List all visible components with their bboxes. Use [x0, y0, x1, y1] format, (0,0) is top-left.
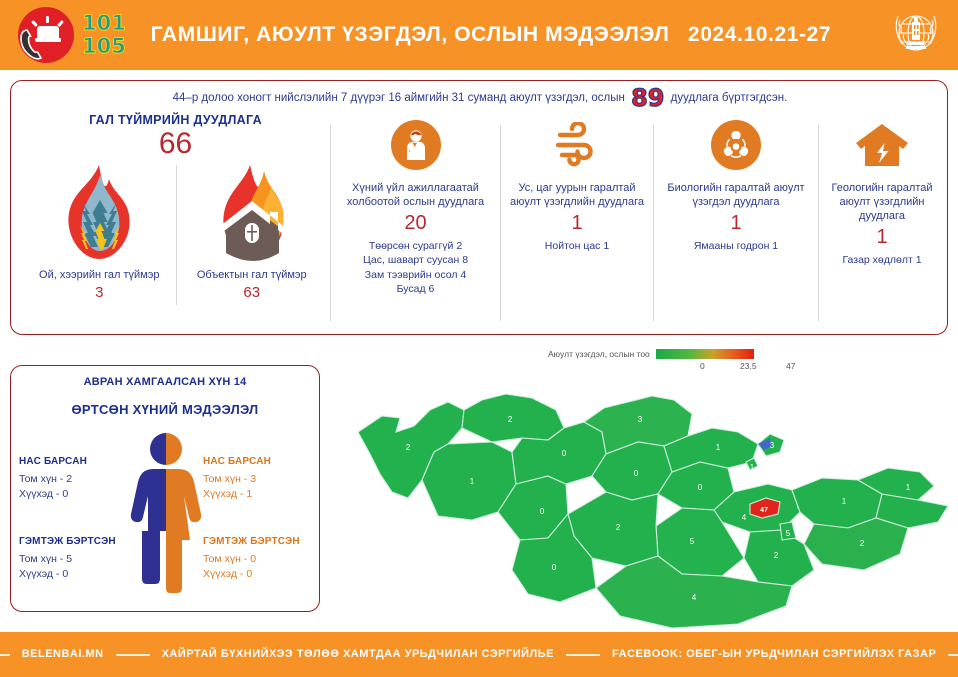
- page-footer: BELENBAI.MN ХАЙРТАЙ БҮХНИЙХЭЭ ТӨЛӨӨ ХАМТ…: [0, 632, 958, 677]
- male-female-figure-icon: [117, 429, 215, 597]
- map-value-sukhbaatar: 2: [860, 539, 865, 548]
- hazard-subline: Газар хөдлөлт 1: [827, 253, 937, 267]
- female-injuries-title: ГЭМТЭЖ БЭРТСЭН: [203, 535, 300, 550]
- region-sukhbaatar: [804, 518, 908, 570]
- hazard-weather: Ус, цаг уурын гаралтай аюулт үзэгдлийн д…: [503, 113, 651, 253]
- legend-row: Аюулт үзэгдэл, ослын тоо: [548, 349, 798, 359]
- female-deaths-child: Хүүхэд - 1: [203, 487, 271, 502]
- map-value-arkhangai: 0: [634, 469, 639, 478]
- hazard-count-1: 20: [339, 213, 492, 233]
- map-value-khentii: 1: [842, 497, 847, 506]
- fire-calls-block: ГАЛ ТҮЙМРИЙН ДУУДЛАГА 66: [23, 113, 328, 328]
- injured-person-circle: [391, 120, 441, 170]
- hazard-sublines-2: Нойтон цас 1: [509, 239, 645, 253]
- map-value-bayankhongor: 0: [552, 563, 557, 572]
- map-value-orkhon: 1: [750, 463, 755, 472]
- affected-people-title: ӨРТСӨН ХҮНИЙ МЭДЭЭЛЭЛ: [11, 402, 319, 417]
- fire-item-building: Объектын гал түймэр 63: [176, 161, 329, 301]
- region-dornogobi: [744, 530, 814, 586]
- footer-website[interactable]: BELENBAI.MN: [22, 647, 104, 662]
- page-header: 101 105 ГАМШИГ, АЮУЛТ ҮЗЭГДЭЛ, ОСЛЫН МЭД…: [0, 0, 958, 70]
- hazard-icon-wrap-1: [339, 113, 492, 177]
- mongolia-choropleth-map: 2 2 1 0 0 3 0 0 1 3 4 47 1 1 2 2 5 5 2 0: [352, 388, 952, 633]
- male-deaths-child: Хүүхэд - 0: [19, 487, 87, 502]
- legend-title: Аюулт үзэгдэл, ослын тоо: [548, 349, 650, 359]
- section-divider-2: [500, 125, 501, 321]
- hazard-human-activity: Хүний үйл ажиллагаатай холбоотой ослын д…: [333, 113, 498, 296]
- map-value-zavkhan: 0: [562, 449, 567, 458]
- map-value-khovd: 1: [470, 477, 475, 486]
- legend-tick-mid: 23.5: [740, 361, 757, 371]
- male-deaths-block: НАС БАРСАН Том хүн - 2 Хүүхэд - 0: [19, 455, 87, 502]
- earthquake-house-icon: [854, 121, 910, 169]
- hazard-subline: Нойтон цас 1: [509, 239, 645, 253]
- affected-people-card: АВРАН ХАМГААЛСАН ХҮН 14 ӨРТСӨН ХҮНИЙ МЭД…: [10, 365, 320, 612]
- nema-globe-emblem-icon: [886, 6, 946, 64]
- weekly-summary-text: 44–р долоо хоногт нийслэлийн 7 дүүрэг 16…: [11, 89, 949, 108]
- female-injuries-child: Хүүхэд - 0: [203, 567, 300, 582]
- summary-prefix: 44–р долоо хоногт нийслэлийн 7 дүүрэг 16…: [173, 92, 625, 104]
- footer-divider: [0, 654, 10, 656]
- page-title-text: ГАМШИГ, АЮУЛТ ҮЗЭГДЭЛ, ОСЛЫН МЭДЭЭЛЭЛ: [151, 23, 670, 46]
- building-fire-label: Объектын гал түймэр: [180, 269, 325, 283]
- map-value-bulgan: 0: [698, 483, 703, 492]
- map-value-umnugobi: 4: [692, 593, 697, 602]
- hazard-subline: Төөрсөн сураггүй 2: [339, 239, 492, 253]
- hazard-sublines-3: Ямааны годрон 1: [662, 239, 810, 253]
- hazard-icon-wrap-3: [662, 113, 810, 177]
- male-deaths-adult: Том хүн - 2: [19, 472, 87, 487]
- map-value-dornogobi: 2: [774, 551, 779, 560]
- map-legend: Аюулт үзэгдэл, ослын тоо 0 23.5 47: [548, 349, 798, 372]
- map-value-bayan-olgii: 2: [406, 443, 411, 452]
- fire-divider: [176, 165, 177, 305]
- footer-divider: [948, 654, 958, 656]
- report-date-range: 2024.10.21-27: [688, 23, 831, 46]
- forest-fire-icon: [51, 161, 147, 265]
- legend-tick-min: 0: [700, 361, 705, 371]
- male-injuries-adult: Том хүн - 5: [19, 552, 116, 567]
- male-injuries-title: ГЭМТЭЖ БЭРТСЭН: [19, 535, 116, 550]
- hazard-summary-card: 44–р долоо хоногт нийслэлийн 7 дүүрэг 16…: [10, 80, 948, 335]
- hazard-label-2: Ус, цаг уурын гаралтай аюулт үзэгдлийн д…: [509, 181, 645, 209]
- building-fire-count: 63: [180, 284, 325, 301]
- map-value-selenge: 1: [716, 443, 721, 452]
- footer-slogan: ХАЙРТАЙ БҮХНИЙХЭЭ ТӨЛӨӨ ХАМТДАА УРЬДЧИЛА…: [162, 647, 554, 662]
- hazard-count-2: 1: [509, 213, 645, 233]
- hazard-subline: Ямааны годрон 1: [662, 239, 810, 253]
- footer-divider: [116, 654, 150, 656]
- rescued-people-count: АВРАН ХАМГААЛСАН ХҮН 14: [11, 376, 319, 388]
- wildfire-count: 3: [27, 284, 172, 301]
- hazard-icon-wrap-2: [509, 113, 645, 177]
- footer-facebook[interactable]: FACEBOOK: ОБЕГ-ЫН УРЬДЧИЛАН СЭРГИЙЛЭХ ГА…: [612, 647, 936, 662]
- map-value-darkhan-uul: 3: [770, 441, 775, 450]
- fire-block-title: ГАЛ ТҮЙМРИЙН ДУУДЛАГА: [23, 113, 328, 127]
- hazard-subline: Цас, шаварт суусан 8: [339, 253, 492, 267]
- legend-gradient-bar: [656, 349, 754, 359]
- region-uvs: [462, 394, 564, 442]
- hazard-icon-wrap-4: [827, 113, 937, 177]
- fire-total-count: 66: [23, 129, 328, 159]
- section-divider-1: [330, 125, 331, 321]
- injured-person-icon: [399, 128, 433, 162]
- hazard-label-4: Геологийн гаралтай аюулт үзэгдлийн дуудл…: [827, 181, 937, 223]
- map-value-dornod: 1: [906, 483, 911, 492]
- map-value-ulaanbaatar: 47: [760, 507, 768, 514]
- female-injuries-adult: Том хүн - 0: [203, 552, 300, 567]
- hazard-geological: Геологийн гаралтай аюулт үзэгдлийн дуудл…: [821, 113, 943, 267]
- summary-suffix: дуудлага бүртгэгдсэн.: [671, 92, 788, 104]
- siren-phone-icon: [10, 4, 82, 66]
- hazard-subline: Бусад 6: [339, 282, 492, 296]
- summary-total-calls: 89: [631, 89, 664, 108]
- footer-divider: [566, 654, 600, 656]
- hazard-label-3: Биологийн гаралтай аюулт үзэгдэл дуудлаг…: [662, 181, 810, 209]
- legend-tick-max: 47: [786, 361, 795, 371]
- hotline-numbers: 101 105: [82, 12, 126, 58]
- hotline-105: 105: [82, 36, 126, 57]
- map-value-khuvsgul: 3: [638, 415, 643, 424]
- hazard-subline: Зам тээврийн осол 4: [339, 268, 492, 282]
- hazard-count-4: 1: [827, 227, 937, 247]
- fire-item-wildfire: Ой, хээрийн гал түймэр 3: [23, 161, 176, 301]
- section-divider-4: [818, 125, 819, 321]
- hazard-sublines-4: Газар хөдлөлт 1: [827, 253, 937, 267]
- female-deaths-adult: Том хүн - 3: [203, 472, 271, 487]
- map-value-dundgobi: 5: [690, 537, 695, 546]
- map-value-tuv: 4: [742, 513, 747, 522]
- map-value-gobi-altai: 0: [540, 507, 545, 516]
- female-injuries-block: ГЭМТЭЖ БЭРТСЭН Том хүн - 0 Хүүхэд - 0: [203, 535, 300, 582]
- hotline-101: 101: [82, 13, 126, 34]
- biohazard-icon: [718, 127, 754, 163]
- male-injuries-block: ГЭМТЭЖ БЭРТСЭН Том хүн - 5 Хүүхэд - 0: [19, 535, 116, 582]
- biohazard-circle: [711, 120, 761, 170]
- wind-weather-icon: [552, 122, 602, 168]
- hazard-label-1: Хүний үйл ажиллагаатай холбоотой ослын д…: [339, 181, 492, 209]
- male-deaths-title: НАС БАРСАН: [19, 455, 87, 470]
- female-deaths-block: НАС БАРСАН Том хүн - 3 Хүүхэд - 1: [203, 455, 271, 502]
- wildfire-label: Ой, хээрийн гал түймэр: [27, 269, 172, 283]
- map-value-uvs: 2: [508, 415, 513, 424]
- map-value-gobisumber: 5: [786, 529, 791, 538]
- map-value-uvurkhangai: 2: [616, 523, 621, 532]
- map-svg: 2 2 1 0 0 3 0 0 1 3 4 47 1 1 2 2 5 5 2 0: [352, 388, 952, 633]
- emergency-hotline-logo: [8, 4, 80, 66]
- hazard-biological: Биологийн гаралтай аюулт үзэгдэл дуудлаг…: [656, 113, 816, 253]
- casualty-breakdown: НАС БАРСАН Том хүн - 2 Хүүхэд - 0 НАС БА…: [11, 423, 319, 598]
- legend-ticks: 0 23.5 47: [700, 361, 798, 372]
- hazard-sublines-1: Төөрсөн сураггүй 2 Цас, шаварт суусан 8 …: [339, 239, 492, 296]
- hazard-count-3: 1: [662, 213, 810, 233]
- building-fire-icon: [204, 161, 300, 265]
- section-divider-3: [653, 125, 654, 321]
- infographic-page: 101 105 ГАМШИГ, АЮУЛТ ҮЗЭГДЭЛ, ОСЛЫН МЭД…: [0, 0, 958, 677]
- male-injuries-child: Хүүхэд - 0: [19, 567, 116, 582]
- fire-breakdown: Ой, хээрийн гал түймэр 3 Объектын г: [23, 161, 328, 301]
- page-title: ГАМШИГ, АЮУЛТ ҮЗЭГДЭЛ, ОСЛЫН МЭДЭЭЛЭЛ 20…: [126, 23, 886, 47]
- female-deaths-title: НАС БАРСАН: [203, 455, 271, 470]
